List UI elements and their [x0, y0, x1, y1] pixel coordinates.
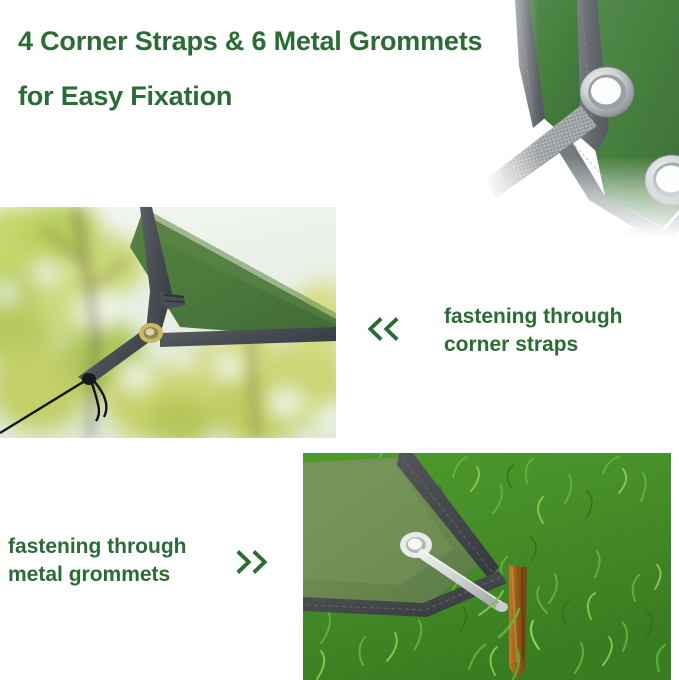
callout-metal-grommets-line-2: metal grommets	[8, 561, 186, 589]
grommet-upper	[580, 67, 634, 117]
photo-corner-strap-sky	[0, 207, 336, 438]
callout-corner-straps-line-1: fastening through	[444, 303, 622, 331]
callout-metal-grommets-line-1: fastening through	[8, 533, 186, 561]
chevron-right-icon	[252, 549, 269, 575]
chevron-left-icon	[382, 316, 399, 342]
chevron-right-icon	[236, 549, 253, 575]
chevrons-pointing-left	[366, 316, 399, 342]
callout-corner-straps-line-2: corner straps	[444, 331, 622, 359]
photo-stake-grass	[303, 453, 671, 680]
chevron-left-icon	[366, 316, 383, 342]
product-infographic: 4 Corner Straps & 6 Metal Grommets for E…	[0, 0, 679, 680]
photo-left-fade	[485, 0, 539, 248]
corner-strap-sky-illustration	[0, 207, 336, 438]
photo-grommets-detail	[485, 0, 679, 248]
callout-corner-straps: fastening through corner straps	[444, 303, 622, 358]
stake-grass-illustration	[303, 453, 671, 680]
cord-knot	[82, 373, 96, 385]
callout-metal-grommets: fastening through metal grommets	[8, 533, 186, 588]
chevrons-pointing-right	[236, 549, 269, 575]
brass-grommet	[139, 323, 163, 343]
